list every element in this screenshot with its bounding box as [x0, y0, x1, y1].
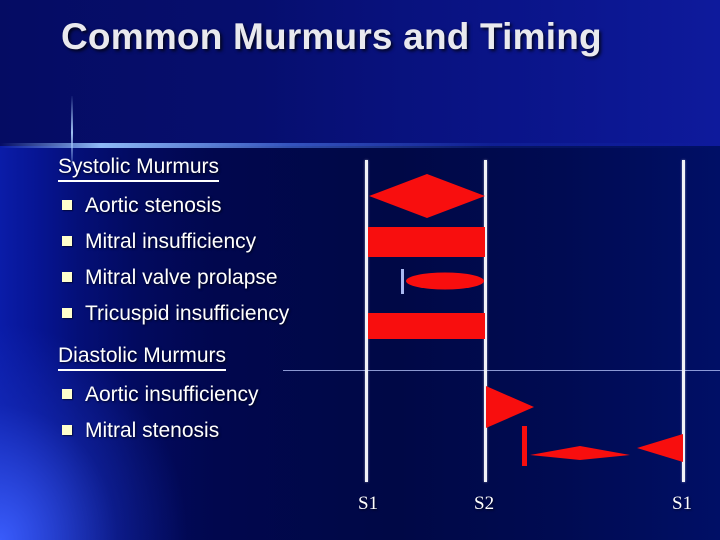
shape-mvp-ellipse: [406, 272, 484, 290]
shape-mitral-stenosis-rumble: [530, 444, 630, 462]
axis-label-s2: S2: [474, 494, 494, 513]
slide-canvas: Common Murmurs and Timing Systolic Murmu…: [0, 0, 720, 540]
shape-mvp-click-tick: [401, 269, 404, 294]
shape-mitral-stenosis-opening-snap: [522, 426, 527, 466]
systolic-diastolic-divider: [283, 370, 720, 371]
axis-label-s1-first: S1: [358, 494, 378, 513]
axis-label-s1-second: S1: [672, 494, 692, 513]
shape-aortic-stenosis-diamond: [369, 173, 485, 219]
shape-mitral-insufficiency-bar: [368, 227, 485, 257]
shape-tricuspid-insufficiency-bar: [368, 313, 485, 339]
shape-aortic-insufficiency-decrescendo: [486, 386, 534, 428]
shape-mitral-stenosis-presystolic-crescendo: [637, 434, 683, 462]
murmur-timing-diagram: S1 S2 S1: [0, 0, 720, 540]
